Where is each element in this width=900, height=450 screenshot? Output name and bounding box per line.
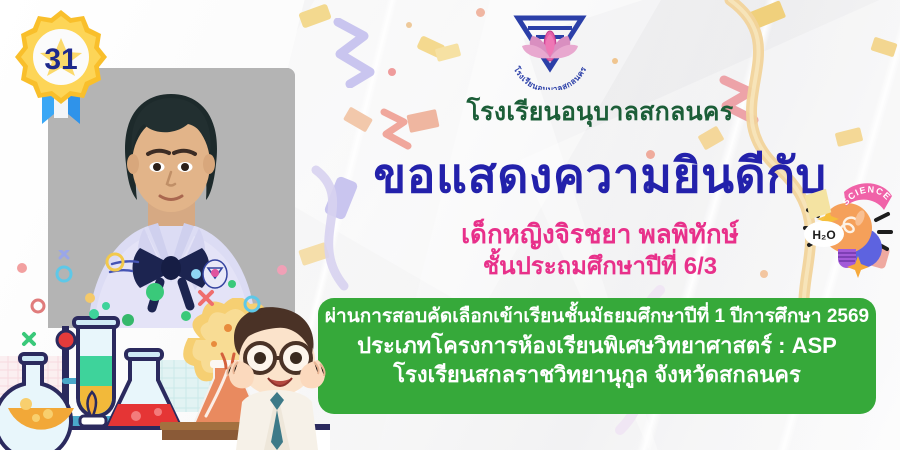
confetti-piece xyxy=(748,0,786,29)
page-title: โรงเรียนอนุบาลสกลนคร xyxy=(300,92,900,132)
rank-badge: 31 xyxy=(8,6,114,134)
scientist-boy-icon xyxy=(228,307,326,450)
congratulations-banner: 31 โรงเรียนอนุบาลสกลนคร โรงเรียนอนุบาลสก… xyxy=(0,0,900,450)
confetti-piece xyxy=(406,22,412,28)
achievement-info-box: ผ่านการสอบคัดเลือกเข้าเรียนชั้นมัธยมศึกษ… xyxy=(318,298,876,414)
h2o-label: H₂O xyxy=(812,228,835,242)
info-line-school: โรงเรียนสกลราชวิทยานุกูล จังหวัดสกลนคร xyxy=(318,361,876,390)
science-lab-illustration xyxy=(0,298,330,450)
confetti-piece xyxy=(298,3,332,28)
school-logo: โรงเรียนอนุบาลสกลนคร xyxy=(492,6,608,90)
confetti-piece xyxy=(870,37,897,58)
badge-number: 31 xyxy=(44,43,77,76)
desk-icon xyxy=(160,422,246,440)
science-sticker: H₂O SCIENCE xyxy=(800,176,896,282)
confetti-zigzag xyxy=(330,18,390,88)
confetti-piece xyxy=(435,43,462,62)
confetti-piece xyxy=(416,35,445,59)
confetti-piece xyxy=(476,8,485,17)
info-line-exam: ผ่านการสอบคัดเลือกเข้าเรียนชั้นมัธยมศึกษ… xyxy=(318,305,876,330)
confetti-piece xyxy=(388,68,396,76)
confetti-piece xyxy=(612,58,618,64)
info-line-program: ประเภทโครงการห้องเรียนพิเศษวิทยาศาสตร์ :… xyxy=(318,332,876,361)
